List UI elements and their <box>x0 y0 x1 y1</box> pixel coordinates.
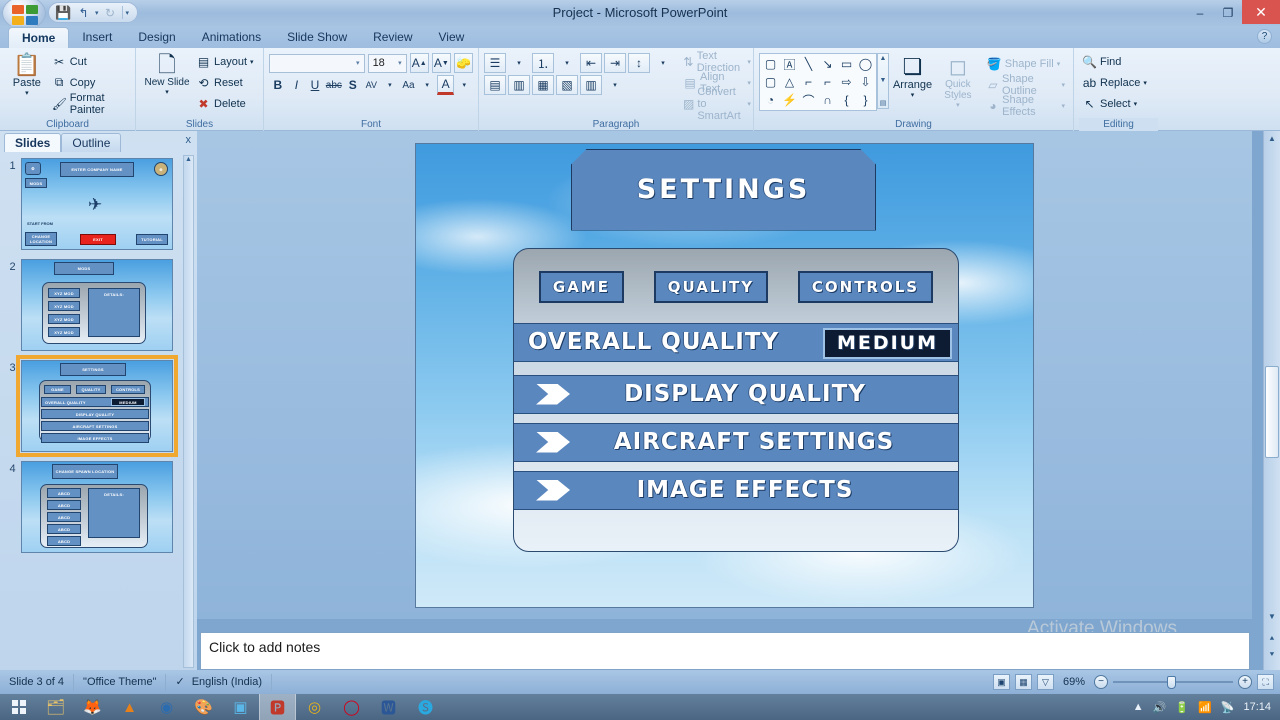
image-effects-row[interactable]: IMAGE EFFECTS <box>514 471 959 510</box>
smartart-dropdown-icon[interactable]: ▾ <box>747 100 751 108</box>
ribbon-tab-bar: Home Insert Design Animations Slide Show… <box>0 26 1280 48</box>
smartart-icon: ▨ <box>683 97 694 111</box>
group-clipboard: 📋 Paste ▾ ✂ Cut ⧉ Copy 🖌 Format Painter <box>0 48 135 131</box>
cut-button[interactable]: ✂ Cut <box>49 51 130 72</box>
image-effects-label: IMAGE EFFECTS <box>570 477 920 503</box>
settings-tab-row: GAME QUALITY CONTROLS <box>514 271 958 307</box>
text-shadow-button[interactable]: S <box>344 75 362 95</box>
font-size-dropdown-icon[interactable]: ▾ <box>398 59 402 67</box>
select-dropdown-icon[interactable]: ▾ <box>1134 100 1138 108</box>
show-hidden-icons[interactable]: ▲ <box>1133 701 1144 713</box>
close-pane-icon[interactable]: x <box>186 134 192 146</box>
image-effects-row: IMAGE EFFECTS <box>41 433 149 443</box>
exit-button: EXIT <box>80 234 116 245</box>
spawn-item: ABCD <box>47 500 81 510</box>
tab-quality: QUALITY <box>76 385 106 394</box>
zoom-out-button[interactable]: − <box>1094 675 1108 689</box>
gallery-scroll-down-icon[interactable]: ▼ <box>880 77 887 84</box>
bullets-button[interactable]: ☰ <box>484 53 506 73</box>
shape-effects-button[interactable]: ◕ Shape Effects ▾ <box>984 95 1068 116</box>
text-direction-dropdown-icon[interactable]: ▾ <box>747 58 751 66</box>
format-painter-button[interactable]: 🖌 Format Painter <box>49 93 130 114</box>
scroll-down-icon[interactable]: ▼ <box>1264 609 1280 624</box>
mod-item: XYZ MOD <box>48 288 80 298</box>
thumbnail-item[interactable]: 4 CHANGE SPAWN LOCATION ABCD ABCD ABCD A… <box>4 461 186 553</box>
game-tab-label: GAME <box>553 278 610 296</box>
taskbar: 🗂 🦊 ▲ ◉ 🎨 ▣ 🅿 ◎ ◯ 🆆 🅢 ▲ 🔊 🔋 📶 📡 17:14 <box>0 694 1280 720</box>
bullets-dropdown-icon[interactable]: ▾ <box>508 53 530 73</box>
copy-label: Copy <box>70 77 96 89</box>
align-left-button[interactable]: ▤ <box>484 75 506 95</box>
clock[interactable]: 17:14 <box>1243 701 1271 713</box>
group-label-drawing: Drawing <box>759 118 1068 131</box>
select-button[interactable]: ↖ Select ▾ <box>1079 93 1150 114</box>
slide-scrollbar[interactable]: ▲ ▼ ⯅ ⯆ <box>1263 131 1280 670</box>
globe-icon: ⊕ <box>154 162 168 176</box>
quick-styles-dropdown-icon[interactable]: ▾ <box>956 101 960 109</box>
scroll-up-icon[interactable]: ▲ <box>1264 131 1280 146</box>
replace-label: Replace <box>1100 77 1140 89</box>
copy-button[interactable]: ⧉ Copy <box>49 72 130 93</box>
thumbnail-slide-1[interactable]: ⚙ ENTER COMPANY NAME ⊕ MODS ✈ START FROM… <box>21 158 173 250</box>
opera-icon[interactable]: ◯ <box>333 694 370 720</box>
decrease-indent-button[interactable]: ⇤ <box>580 53 602 73</box>
spellcheck-icon: ✓ <box>175 674 184 691</box>
shape-fill-dropdown-icon[interactable]: ▾ <box>1057 60 1061 68</box>
thumbnail-number: 2 <box>4 259 21 273</box>
controls-tab-button[interactable]: CONTROLS <box>798 271 933 303</box>
notes-placeholder: Click to add notes <box>209 639 320 655</box>
window-title: Project - Microsoft PowerPoint <box>0 0 1280 26</box>
spawn-item: ABCD <box>47 488 81 498</box>
align-text-dropdown-icon[interactable]: ▾ <box>747 79 751 87</box>
find-label: Find <box>1100 56 1121 68</box>
mod-item: XYZ MOD <box>48 327 80 337</box>
paintbrush-icon: 🖌 <box>52 97 67 111</box>
replace-button[interactable]: ab Replace ▾ <box>1079 72 1150 93</box>
zoom-knob[interactable] <box>1167 676 1176 689</box>
shapes-gallery[interactable]: ▢ 🄰 ╲ ↘ ▭ ◯ ▢ △ ⌐ ⌐ ⇨ ⇩ ◔ ⚡ ⌒ ∩ { <box>759 53 877 111</box>
group-label-clipboard: Clipboard <box>5 118 130 131</box>
controls-tab-label: CONTROLS <box>812 278 919 296</box>
arrange-icon: ❏ <box>903 55 923 79</box>
shape-fill-icon: 🪣 <box>987 57 1002 71</box>
slides-pane: Slides Outline x 1 ⚙ ENTER COMPANY NAME … <box>0 131 197 670</box>
grow-font-button[interactable]: A▲ <box>410 53 429 73</box>
shape-round-rect-icon[interactable]: ▢ <box>761 73 780 91</box>
file-explorer-icon[interactable]: 🗂 <box>37 694 74 720</box>
thumbnail-list[interactable]: 1 ⚙ ENTER COMPANY NAME ⊕ MODS ✈ START FR… <box>0 152 186 670</box>
underline-button[interactable]: U <box>306 75 324 95</box>
vlc-icon[interactable]: ▲ <box>111 694 148 720</box>
ribbon: 📋 Paste ▾ ✂ Cut ⧉ Copy 🖌 Format Painter <box>0 48 1280 131</box>
copy-icon: ⧉ <box>52 75 67 90</box>
convert-smartart-button[interactable]: ▨ Convert to SmartArt ▾ <box>680 93 754 114</box>
paste-dropdown-icon[interactable]: ▾ <box>25 89 29 97</box>
thumbnail-number: 3 <box>4 360 21 374</box>
clear-formatting-button[interactable]: 🧽 <box>454 53 473 73</box>
mod-item: XYZ MOD <box>48 314 80 324</box>
details-panel: DETAILS: <box>88 288 140 337</box>
reset-icon: ⟲ <box>196 76 211 90</box>
shape-outline-icon: ▱ <box>987 78 999 92</box>
network-icon[interactable]: 📶 <box>1198 701 1212 714</box>
settings-menu-panel: GAME QUALITY CONTROLS OVERALL QUALITY ME… <box>513 248 959 552</box>
font-name-input[interactable]: ▾ <box>269 54 365 73</box>
text-direction-button[interactable]: ⇅ Text Direction ▾ <box>680 51 754 72</box>
shape-left-brace-icon[interactable]: { <box>837 91 856 109</box>
select-label: Select <box>1100 98 1131 110</box>
scrollbar-thumb[interactable] <box>1265 366 1279 458</box>
slides-pane-tabs: Slides Outline x <box>0 131 197 152</box>
new-slide-dropdown-icon[interactable]: ▾ <box>165 88 169 96</box>
media-player-icon[interactable]: ◉ <box>148 694 185 720</box>
spawn-item: ABCD <box>47 512 81 522</box>
group-font: ▾ 18 ▾ A▲ A▼ 🧽 B I U abc S AV <box>263 48 478 131</box>
spawn-title: CHANGE SPAWN LOCATION <box>52 464 118 479</box>
overall-quality-badge[interactable]: MEDIUM <box>823 328 952 359</box>
bold-button[interactable]: B <box>269 75 287 95</box>
settings-banner[interactable]: SETTINGS <box>571 149 876 231</box>
battery-icon[interactable]: 🔋 <box>1175 701 1189 714</box>
thumbnail-slide-4[interactable]: CHANGE SPAWN LOCATION ABCD ABCD ABCD ABC… <box>21 461 173 553</box>
group-editing: 🔍 Find ab Replace ▾ ↖ Select ▾ Editing <box>1073 48 1163 131</box>
firefox-icon[interactable]: 🦊 <box>74 694 111 720</box>
overall-quality-label: OVERALL QUALITY <box>528 329 779 355</box>
replace-icon: ab <box>1082 76 1097 90</box>
quality-tab-label: QUALITY <box>668 278 754 296</box>
change-case-button[interactable]: Aa <box>400 75 418 95</box>
slide-sorter-button[interactable]: ▦ <box>1015 674 1032 690</box>
shape-effects-icon: ◕ <box>987 99 999 113</box>
shape-triangle-icon[interactable]: △ <box>780 73 799 91</box>
shape-rounded-rect-icon[interactable]: ▢ <box>761 55 780 73</box>
quick-styles-button[interactable]: ◻ Quick Styles ▾ <box>936 53 980 109</box>
tab-controls: CONTROLS <box>111 385 145 394</box>
gallery-expand-icon[interactable]: ▤ <box>880 99 887 107</box>
font-size-value: 18 <box>373 57 385 69</box>
volume-icon[interactable]: 🔊 <box>1153 701 1167 714</box>
columns-dropdown-icon[interactable]: ▾ <box>604 75 626 95</box>
shape-curve-icon[interactable]: ⌒ <box>799 91 818 109</box>
binoculars-icon: 🔍 <box>1082 55 1097 69</box>
thumbnail-item[interactable]: 2 MODS XYZ MOD XYZ MOD XYZ MOD XYZ MOD D… <box>4 259 186 351</box>
settings-title: SETTINGS <box>60 363 126 376</box>
layout-label: Layout <box>214 56 247 68</box>
mods-button: MODS <box>25 178 47 188</box>
slide-show-button[interactable]: ▽ <box>1037 674 1054 690</box>
delete-label: Delete <box>214 98 246 110</box>
scissors-icon: ✂ <box>52 55 67 69</box>
display-quality-row: DISPLAY QUALITY <box>41 409 149 419</box>
chevron-right-icon <box>536 384 570 405</box>
skype-icon[interactable]: 🅢 <box>407 694 444 720</box>
language-status[interactable]: ✓ English (India) <box>166 674 272 691</box>
aircraft-settings-row: AIRCRAFT SETTINGS <box>41 421 149 431</box>
format-painter-label: Format Painter <box>70 92 127 116</box>
justify-button[interactable]: ▧ <box>556 75 578 95</box>
quality-tab-button[interactable]: QUALITY <box>654 271 768 303</box>
shape-outline-button[interactable]: ▱ Shape Outline ▾ <box>984 74 1068 95</box>
group-label-editing: Editing <box>1079 118 1158 131</box>
new-slide-button[interactable]: 🗋 New Slide ▾ <box>141 51 193 96</box>
group-slides: 🗋 New Slide ▾ ▤ Layout ▾ ⟲ Reset ✖ Delet… <box>135 48 263 131</box>
shape-outline-dropdown-icon[interactable]: ▾ <box>1061 81 1065 89</box>
text-direction-icon: ⇅ <box>683 55 694 69</box>
language-label: English (India) <box>192 674 262 691</box>
numbering-dropdown-icon[interactable]: ▾ <box>556 53 578 73</box>
quick-styles-label: Quick Styles <box>936 79 980 101</box>
columns-button[interactable]: ▥ <box>580 75 602 95</box>
powerpoint-icon[interactable]: 🅿 <box>259 694 296 720</box>
game-tab-button[interactable]: GAME <box>539 271 624 303</box>
group-drawing: ▢ 🄰 ╲ ↘ ▭ ◯ ▢ △ ⌐ ⌐ ⇨ ⇩ ◔ ⚡ ⌒ ∩ { <box>753 48 1073 131</box>
reset-label: Reset <box>214 77 243 89</box>
airplane-icon: ✈ <box>88 195 102 215</box>
thumbnail-number: 1 <box>4 158 21 172</box>
group-label-paragraph: Paragraph <box>484 118 748 131</box>
tab-view[interactable]: View <box>426 27 478 48</box>
tab-outline[interactable]: Outline <box>61 133 121 152</box>
maximize-button[interactable]: ❐ <box>1214 2 1242 24</box>
shape-elbow-arrow-icon[interactable]: ⌐ <box>818 73 837 91</box>
line-spacing-button[interactable]: ↕ <box>628 53 650 73</box>
font-size-input[interactable]: 18 ▾ <box>368 54 407 73</box>
replace-dropdown-icon[interactable]: ▾ <box>1143 79 1147 87</box>
layout-dropdown-icon[interactable]: ▾ <box>250 58 254 66</box>
tab-review[interactable]: Review <box>360 27 425 48</box>
mod-item: XYZ MOD <box>48 301 80 311</box>
shape-lightning-icon[interactable]: ⚡ <box>780 91 799 109</box>
shape-fill-label: Shape Fill <box>1005 58 1054 70</box>
chevron-right-icon <box>536 480 570 501</box>
zoom-level: 69% <box>1059 676 1089 688</box>
status-bar: Slide 3 of 4 "Office Theme" ✓ English (I… <box>0 670 1280 694</box>
character-spacing-dropdown-icon[interactable]: ▾ <box>381 75 399 95</box>
gear-icon: ⚙ <box>25 162 41 175</box>
close-button[interactable]: ✕ <box>1242 0 1280 24</box>
font-color-dropdown-icon[interactable]: ▾ <box>455 75 473 95</box>
tab-insert[interactable]: Insert <box>69 27 125 48</box>
shape-down-arrow-icon[interactable]: ⇩ <box>856 73 875 91</box>
notes-pane[interactable]: Click to add notes <box>200 632 1250 670</box>
medium-badge: MEDIUM <box>111 398 145 406</box>
arrange-button[interactable]: ❏ Arrange ▾ <box>889 53 936 99</box>
spawn-item: ABCD <box>47 536 81 546</box>
company-name-label: ENTER COMPANY NAME <box>60 162 134 177</box>
thumbnail-number: 4 <box>4 461 21 475</box>
shape-arc-icon[interactable]: ∩ <box>818 91 837 109</box>
shape-effects-dropdown-icon[interactable]: ▾ <box>1061 102 1065 110</box>
settings-title: SETTINGS <box>637 174 811 205</box>
overall-quality-value: MEDIUM <box>837 332 938 354</box>
font-color-button[interactable]: A <box>437 75 455 95</box>
align-text-icon: ▤ <box>683 76 697 90</box>
slides-pane-scrollbar[interactable]: ▲ <box>183 155 194 668</box>
reset-button[interactable]: ⟲ Reset <box>193 72 257 93</box>
tab-game: GAME <box>44 385 71 394</box>
slide-counter[interactable]: Slide 3 of 4 <box>0 674 74 691</box>
shapes-gallery-scrollbar[interactable]: ▲ ▼ ▤ <box>877 53 889 109</box>
find-button[interactable]: 🔍 Find <box>1079 51 1150 72</box>
change-location-button: CHANGE LOCATION <box>25 232 57 246</box>
group-label-font: Font <box>269 118 473 131</box>
change-case-dropdown-icon[interactable]: ▾ <box>418 75 436 95</box>
paste-icon: 📋 <box>13 53 40 77</box>
display-quality-label: DISPLAY QUALITY <box>570 381 920 407</box>
chrome-icon[interactable]: ◎ <box>296 694 333 720</box>
shape-right-brace-icon[interactable]: } <box>856 91 875 109</box>
align-center-button[interactable]: ▥ <box>508 75 530 95</box>
tutorial-button: TUTORIAL <box>136 234 168 245</box>
arrange-label: Arrange <box>893 79 932 91</box>
tab-design[interactable]: Design <box>125 27 188 48</box>
shape-rect-icon[interactable]: ▭ <box>837 55 856 73</box>
tab-home[interactable]: Home <box>8 27 69 48</box>
group-paragraph: ☰ ▾ ⒈ ▾ ⇤ ⇥ ↕ ▾ ▤ ▥ ▦ ▧ ▥ ▾ <box>478 48 753 131</box>
line-spacing-dropdown-icon[interactable]: ▾ <box>652 53 674 73</box>
shape-elbow-icon[interactable]: ⌐ <box>799 73 818 91</box>
help-icon[interactable]: ? <box>1257 29 1272 44</box>
thumbnail-item[interactable]: 1 ⚙ ENTER COMPANY NAME ⊕ MODS ✈ START FR… <box>4 158 186 250</box>
align-right-button[interactable]: ▦ <box>532 75 554 95</box>
arrange-dropdown-icon[interactable]: ▾ <box>911 91 915 99</box>
start-button[interactable] <box>0 694 37 720</box>
zoom-slider[interactable] <box>1113 676 1233 688</box>
tab-slides[interactable]: Slides <box>4 133 61 152</box>
strikethrough-button[interactable]: abc <box>325 75 343 95</box>
thumbnail-item[interactable]: 3 SETTINGS GAME QUALITY CONTROLS OVERALL… <box>4 360 186 452</box>
normal-view-button[interactable]: ▣ <box>993 674 1010 690</box>
word-icon[interactable]: 🆆 <box>370 694 407 720</box>
shape-pie-icon[interactable]: ◔ <box>761 91 780 109</box>
minimize-button[interactable]: – <box>1186 2 1214 24</box>
aircraft-settings-label: AIRCRAFT SETTINGS <box>570 429 938 455</box>
paste-label: Paste <box>13 77 41 89</box>
cut-label: Cut <box>70 56 87 68</box>
cursor-icon: ↖ <box>1082 97 1097 111</box>
layout-icon: ▤ <box>196 55 211 69</box>
quick-styles-icon: ◻ <box>949 55 967 79</box>
previous-slide-button[interactable]: ⯅ <box>1264 631 1280 646</box>
slide-canvas[interactable]: SETTINGS GAME QUALITY CONTROLS OVERALL Q… <box>197 131 1252 619</box>
shape-fill-button[interactable]: 🪣 Shape Fill ▾ <box>984 53 1068 74</box>
new-slide-label: New Slide <box>144 77 189 88</box>
overall-quality-row[interactable]: OVERALL QUALITY MEDIUM <box>514 323 959 362</box>
scroll-up-icon[interactable]: ▲ <box>184 156 193 163</box>
system-tray: ▲ 🔊 🔋 📶 📡 17:14 <box>1133 701 1280 714</box>
zoom-in-button[interactable]: + <box>1238 675 1252 689</box>
start-from-label: START FROM <box>27 221 53 226</box>
shape-line-icon[interactable]: ╲ <box>799 55 818 73</box>
camera-icon[interactable]: ▣ <box>222 694 259 720</box>
font-name-dropdown-icon[interactable]: ▾ <box>356 59 360 67</box>
status-right-controls: ▣ ▦ ▽ 69% − + ⛶ <box>993 674 1280 690</box>
next-slide-button[interactable]: ⯆ <box>1264 647 1280 662</box>
character-spacing-button[interactable]: AV <box>363 75 381 95</box>
paint-icon[interactable]: 🎨 <box>185 694 222 720</box>
signal-icon[interactable]: 📡 <box>1221 701 1235 714</box>
italic-button[interactable]: I <box>288 75 306 95</box>
shape-textbox-icon[interactable]: 🄰 <box>780 55 799 73</box>
numbering-button[interactable]: ⒈ <box>532 53 554 73</box>
group-label-slides: Slides <box>141 118 258 131</box>
mods-title: MODS <box>54 262 114 275</box>
increase-indent-button[interactable]: ⇥ <box>604 53 626 73</box>
aircraft-settings-row[interactable]: AIRCRAFT SETTINGS <box>514 423 959 462</box>
fit-slide-button[interactable]: ⛶ <box>1257 674 1274 690</box>
paste-button[interactable]: 📋 Paste ▾ <box>5 51 49 97</box>
window-controls: – ❐ ✕ <box>1186 0 1280 26</box>
shape-right-arrow-icon[interactable]: ⇨ <box>837 73 856 91</box>
tab-animations[interactable]: Animations <box>189 27 274 48</box>
gallery-scroll-up-icon[interactable]: ▲ <box>880 55 887 62</box>
details-panel: DETAILS: <box>88 488 140 538</box>
new-slide-icon: 🗋 <box>158 53 176 77</box>
shape-effects-label: Shape Effects <box>1002 94 1058 118</box>
theme-name[interactable]: "Office Theme" <box>74 674 166 691</box>
spawn-item: ABCD <box>47 524 81 534</box>
thumbnail-slide-3[interactable]: SETTINGS GAME QUALITY CONTROLS OVERALL Q… <box>21 360 173 452</box>
slide-editing-area[interactable]: SETTINGS GAME QUALITY CONTROLS OVERALL Q… <box>415 143 1034 608</box>
delete-icon: ✖ <box>196 97 211 111</box>
delete-slide-button[interactable]: ✖ Delete <box>193 93 257 114</box>
shape-arrow-icon[interactable]: ↘ <box>818 55 837 73</box>
shrink-font-button[interactable]: A▼ <box>432 53 451 73</box>
chevron-right-icon <box>536 432 570 453</box>
layout-button[interactable]: ▤ Layout ▾ <box>193 51 257 72</box>
tab-slide-show[interactable]: Slide Show <box>274 27 360 48</box>
convert-smartart-label: Convert to SmartArt <box>697 86 744 122</box>
title-bar: 💾 ↰ ▾ ↻ ▾ Project - Microsoft PowerPoint… <box>0 0 1280 26</box>
windows-logo-icon <box>12 700 26 714</box>
shape-oval-icon[interactable]: ◯ <box>856 55 875 73</box>
thumbnail-slide-2[interactable]: MODS XYZ MOD XYZ MOD XYZ MOD XYZ MOD DET… <box>21 259 173 351</box>
display-quality-row[interactable]: DISPLAY QUALITY <box>514 375 959 414</box>
